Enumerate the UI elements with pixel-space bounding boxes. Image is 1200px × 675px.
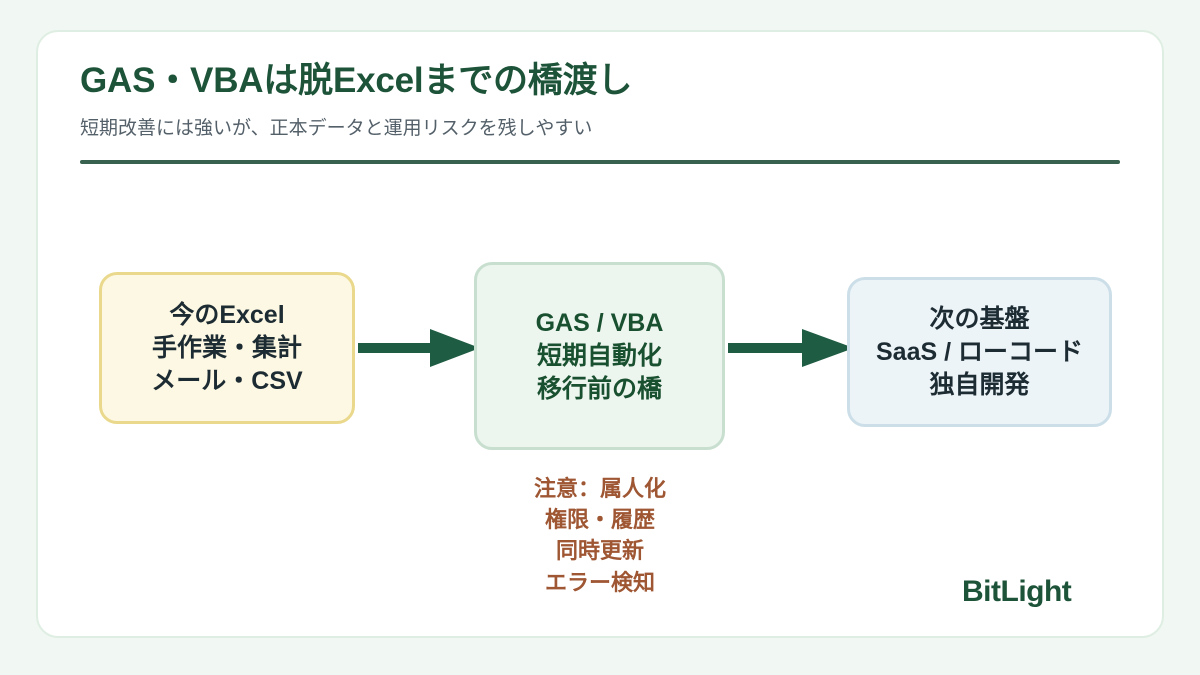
page-subtitle: 短期改善には強いが、正本データと運用リスクを残しやすい <box>80 113 592 140</box>
warning-note: 注意：属人化 権限・履歴 同時更新 エラー検知 <box>475 473 725 598</box>
flow-box-current-line-1: 今のExcel <box>169 299 284 332</box>
flow-box-bridge: GAS / VBA 短期自動化 移行前の橋 <box>474 262 725 450</box>
header-divider <box>80 160 1120 164</box>
flow-box-bridge-line-2: 短期自動化 <box>537 340 662 373</box>
arrow-right-icon-2 <box>728 325 854 371</box>
warning-note-line-3: 同時更新 <box>475 535 725 566</box>
page-title: GAS・VBAは脱Excelまでの橋渡し <box>80 52 632 103</box>
flow-box-next-line-2: SaaS / ローコード <box>876 336 1083 369</box>
brand-logo: BitLight <box>962 575 1071 609</box>
flow-box-bridge-line-1: GAS / VBA <box>536 307 664 340</box>
arrow-right-icon-1 <box>358 325 480 371</box>
warning-note-line-4: エラー検知 <box>475 567 725 598</box>
slide-canvas: GAS・VBAは脱Excelまでの橋渡し 短期改善には強いが、正本データと運用リ… <box>0 0 1200 675</box>
flow-box-next-line-3: 独自開発 <box>929 369 1029 402</box>
flow-box-current-line-3: メール・CSV <box>151 365 302 398</box>
warning-note-line-2: 権限・履歴 <box>475 504 725 535</box>
flow-box-bridge-line-3: 移行前の橋 <box>537 373 662 406</box>
flow-box-next: 次の基盤 SaaS / ローコード 独自開発 <box>847 277 1112 427</box>
flow-box-next-line-1: 次の基盤 <box>929 303 1029 336</box>
flow-box-current-line-2: 手作業・集計 <box>152 332 302 365</box>
warning-note-line-1: 注意：属人化 <box>475 473 725 504</box>
flow-box-current: 今のExcel 手作業・集計 メール・CSV <box>99 272 355 424</box>
